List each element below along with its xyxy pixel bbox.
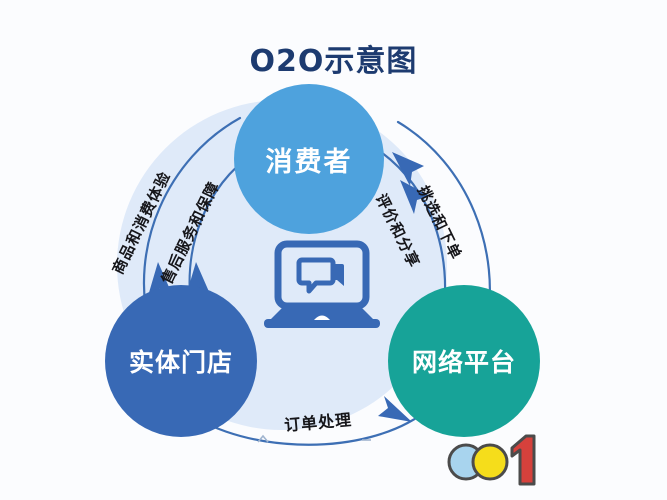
diagram-canvas: O2O示意图 消费者 实体门店 网络平台 [0, 0, 667, 500]
node-consumer-label: 消费者 [266, 140, 353, 179]
node-consumer[interactable]: 消费者 [234, 84, 384, 234]
node-store-label: 实体门店 [129, 343, 233, 379]
arrowhead-platform-to-consumer-outer [392, 152, 424, 186]
node-platform-label: 网络平台 [412, 343, 516, 379]
laptop-chat-icon [262, 240, 382, 336]
cc1-logo [440, 428, 550, 490]
node-platform[interactable]: 网络平台 [388, 285, 540, 437]
node-store[interactable]: 实体门店 [105, 285, 257, 437]
